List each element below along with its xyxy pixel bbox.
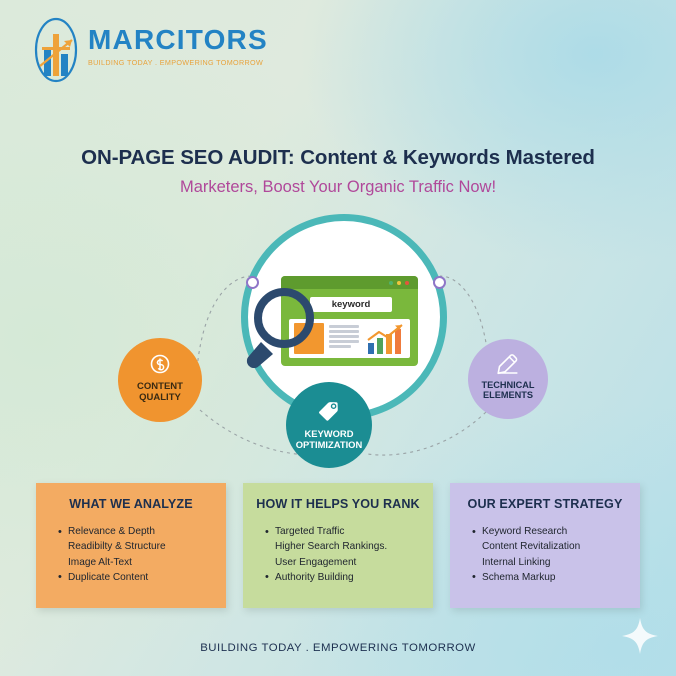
- panel-list: Targeted Traffic Higher Search Rankings.…: [256, 524, 420, 585]
- magnifying-glass-icon: [239, 286, 319, 368]
- footer-tagline: BUILDING TODAY . EMPOWERING TOMORROW: [0, 642, 676, 654]
- panel-title: OUR EXPERT STRATEGY: [463, 497, 627, 511]
- list-item: Readibilty & Structure: [58, 539, 213, 554]
- badge-label: CONTENT QUALITY: [118, 382, 202, 403]
- list-item: Relevance & Depth: [58, 524, 213, 539]
- infographic-poster: MARCITORS BUILDING TODAY . EMPOWERING TO…: [0, 0, 676, 676]
- text-line: [329, 335, 359, 338]
- badge-line-1: CONTENT: [137, 381, 183, 392]
- text-line: [329, 325, 359, 328]
- info-panels: WHAT WE ANALYZE Relevance & Depth Readib…: [36, 483, 640, 608]
- list-item: Content Revitalization: [472, 539, 627, 554]
- panel-how-it-helps-you-rank: HOW IT HELPS YOU RANK Targeted Traffic H…: [243, 483, 433, 608]
- list-item: Keyword Research: [472, 524, 627, 539]
- badge-label: TECHNICAL ELEMENTS: [468, 380, 548, 401]
- browser-dot-yellow-icon: [397, 281, 401, 285]
- page-subtitle: Marketers, Boost Your Organic Traffic No…: [0, 178, 676, 197]
- text-line: [329, 340, 359, 343]
- badge-technical-elements[interactable]: TECHNICAL ELEMENTS: [468, 339, 548, 419]
- list-item: Duplicate Content: [58, 570, 213, 585]
- list-item: Schema Markup: [472, 570, 627, 585]
- pencil-edit-icon: [496, 353, 520, 375]
- marcitors-logo-mark: [28, 14, 84, 86]
- list-item: Higher Search Rankings.: [265, 539, 420, 554]
- browser-dot-red-icon: [405, 281, 409, 285]
- brand-text-block: MARCITORS BUILDING TODAY . EMPOWERING TO…: [88, 26, 268, 67]
- panel-title: HOW IT HELPS YOU RANK: [256, 497, 420, 511]
- badge-line-2: OPTIMIZATION: [296, 439, 363, 450]
- list-item: User Engagement: [265, 555, 420, 570]
- list-item: Authority Building: [265, 570, 420, 585]
- page-title: ON-PAGE SEO AUDIT: Content & Keywords Ma…: [0, 146, 676, 170]
- list-item: Targeted Traffic: [265, 524, 420, 539]
- badge-line-2: ELEMENTS: [483, 390, 533, 400]
- sparkle-star-icon: [620, 616, 660, 656]
- panel-list: Keyword Research Content Revitalization …: [463, 524, 627, 585]
- text-line: [329, 345, 351, 348]
- coin-badge-icon: [149, 354, 171, 376]
- list-item: Image Alt-Text: [58, 555, 213, 570]
- badge-content-quality[interactable]: CONTENT QUALITY: [118, 338, 202, 422]
- bar-chart-icon: [365, 323, 406, 354]
- panel-our-expert-strategy: OUR EXPERT STRATEGY Keyword Research Con…: [450, 483, 640, 608]
- connector-node-right-icon: [433, 276, 446, 289]
- text-line: [329, 330, 359, 333]
- badge-keyword-optimization[interactable]: KEYWORD OPTIMIZATION: [286, 382, 372, 468]
- panel-title: WHAT WE ANALYZE: [49, 497, 213, 511]
- list-item: Internal Linking: [472, 555, 627, 570]
- badge-line-2: QUALITY: [139, 392, 181, 403]
- price-tag-icon: [317, 399, 341, 421]
- central-diagram: keyword: [96, 214, 586, 474]
- brand-logo: MARCITORS BUILDING TODAY . EMPOWERING TO…: [28, 12, 358, 90]
- brand-tagline: BUILDING TODAY . EMPOWERING TOMORROW: [88, 58, 268, 67]
- badge-label: KEYWORD OPTIMIZATION: [286, 429, 372, 450]
- panel-what-we-analyze: WHAT WE ANALYZE Relevance & Depth Readib…: [36, 483, 226, 608]
- keyword-search-input[interactable]: keyword: [310, 297, 392, 312]
- panel-list: Relevance & Depth Readibilty & Structure…: [49, 524, 213, 585]
- badge-line-1: KEYWORD: [305, 428, 354, 439]
- browser-dot-green-icon: [389, 281, 393, 285]
- badge-line-1: TECHNICAL: [481, 380, 534, 390]
- brand-wordmark: MARCITORS: [88, 26, 268, 54]
